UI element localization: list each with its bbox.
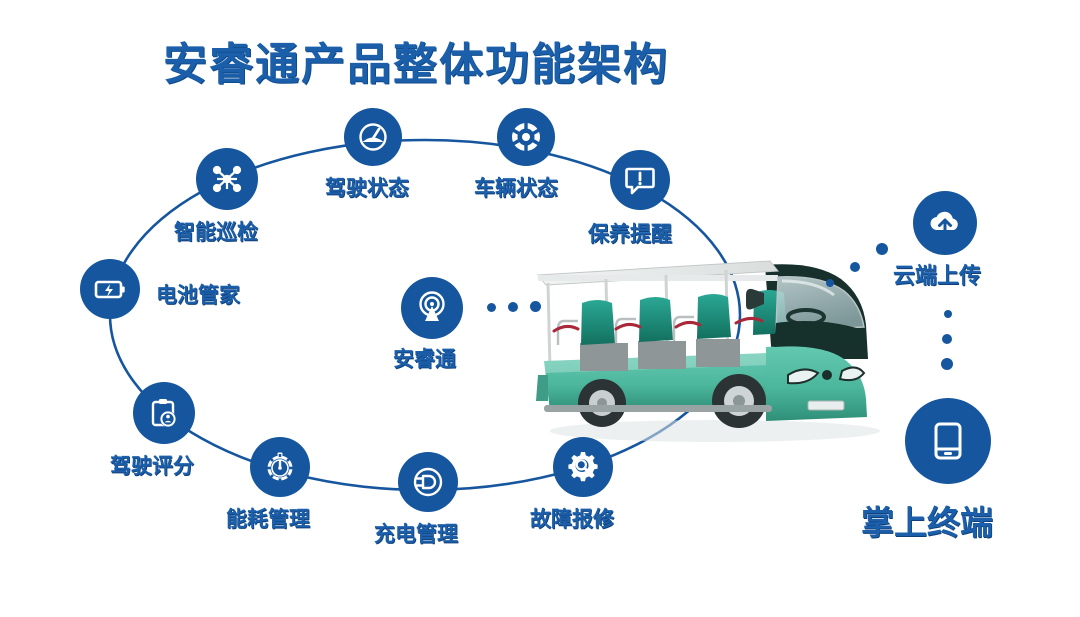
connector-dot xyxy=(944,310,952,318)
connector-dot xyxy=(941,358,953,370)
cloud-upload-icon xyxy=(913,191,977,255)
orbit-node-label-maintenance-reminder: 保养提醒 xyxy=(588,218,672,248)
alert-bubble-icon xyxy=(610,150,670,210)
speedometer-icon xyxy=(344,108,402,166)
orbit-node-label-battery-manager: 电池管家 xyxy=(156,279,240,309)
orbit-node-label-charging-management: 充电管理 xyxy=(374,518,458,548)
orbit-node-label-driving-score: 驾驶评分 xyxy=(110,450,194,480)
connector-dot xyxy=(487,303,496,312)
orbit-node-label-fault-repair: 故障报修 xyxy=(530,503,614,533)
charging-plug-icon xyxy=(398,452,458,512)
center-node-label-anruitong: 安睿通 xyxy=(393,343,456,373)
infographic-canvas: 安睿通产品整体功能架构 xyxy=(0,0,1080,617)
battery-bolt-icon xyxy=(80,259,140,319)
connector-dot xyxy=(850,262,860,272)
orbit-node-label-vehicle-status: 车辆状态 xyxy=(474,172,558,202)
orbit-node-label-driving-status: 驾驶状态 xyxy=(325,172,409,202)
gear-wrench-icon xyxy=(553,437,613,497)
clipboard-person-icon xyxy=(133,382,195,444)
network-nodes-icon xyxy=(196,148,258,210)
connector-dot xyxy=(876,243,888,255)
right-node-label-handheld-terminal: 掌上终端 xyxy=(861,496,993,544)
gauge-timer-icon xyxy=(250,437,310,497)
connector-dot xyxy=(530,301,541,312)
signal-tower-icon xyxy=(401,277,463,339)
connector-dot xyxy=(942,334,952,344)
orbit-node-label-energy-management: 能耗管理 xyxy=(226,503,310,533)
connector-dot xyxy=(826,279,834,287)
mobile-device-icon xyxy=(905,398,991,484)
tire-wheel-icon xyxy=(497,108,555,166)
electric-shuttle-bus xyxy=(520,235,900,450)
orbit-node-label-smart-inspection: 智能巡检 xyxy=(174,216,258,246)
right-node-label-cloud-upload: 云端上传 xyxy=(893,258,981,290)
connector-dot xyxy=(508,302,518,312)
